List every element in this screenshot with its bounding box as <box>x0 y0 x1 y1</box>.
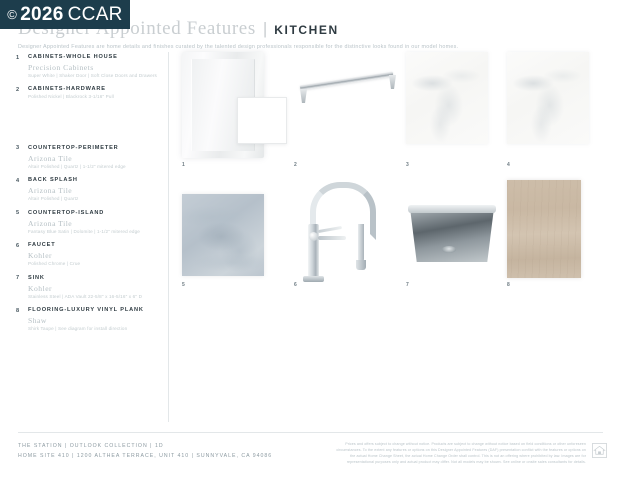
feature-category: COUNTERTOP-PERIMETER <box>28 145 166 153</box>
cabinet-pull-image <box>294 52 399 158</box>
product-cell-8: 8 <box>507 180 606 284</box>
feature-number: 6 <box>16 242 28 268</box>
feature-category: CABINETS-WHOLE HOUSE <box>28 54 166 62</box>
feature-number: 8 <box>16 307 28 333</box>
quartz-backsplash-image <box>507 52 589 144</box>
feature-description: Shirk Taupe | See diagram for install di… <box>28 326 166 333</box>
feature-brand: Precision Cabinets <box>28 62 166 73</box>
copyright-watermark: © 2026 CCAR <box>0 0 130 29</box>
product-cell-3: 3 <box>406 52 507 158</box>
vinyl-plank-image <box>507 180 581 278</box>
product-number-3: 3 <box>406 162 409 168</box>
product-number-7: 7 <box>406 282 409 288</box>
feature-category: CABINETS-HARDWARE <box>28 86 166 94</box>
feature-description: Polished Chrome | Crue <box>28 261 166 268</box>
feature-description: Polished Nickel | Blackrock 3-1/16" Pull <box>28 94 166 101</box>
feature-item: 1 CABINETS-WHOLE HOUSE Precision Cabinet… <box>16 54 166 80</box>
product-row-bottom: 5 6 7 8 <box>182 180 606 284</box>
equal-housing-opportunity-icon <box>592 443 607 458</box>
feature-category: FLOORING-LUXURY VINYL PLANK <box>28 307 166 315</box>
feature-description: Altair Polished | Quartz <box>28 196 166 203</box>
feature-number: 3 <box>16 145 28 171</box>
footer-divider <box>18 432 603 433</box>
product-number-4: 4 <box>507 162 510 168</box>
product-number-8: 8 <box>507 282 510 288</box>
feature-number: 1 <box>16 54 28 80</box>
footer-address-block: THE STATION | OUTLOOK COLLECTION | 1D HO… <box>18 442 272 462</box>
feature-brand: Arizona Tile <box>28 153 166 164</box>
copyright-year: 2026 <box>20 4 63 26</box>
product-cell-5: 5 <box>182 180 294 284</box>
sink-image <box>406 200 498 274</box>
feature-category: SINK <box>28 275 166 283</box>
feature-item: 6 FAUCET Kohler Polished Chrome | Crue <box>16 242 166 268</box>
product-number-5: 5 <box>182 282 185 288</box>
room-label: KITCHEN <box>274 23 339 37</box>
footer-community-line: THE STATION | OUTLOOK COLLECTION | 1D <box>18 442 272 452</box>
product-row-top: 1 2 3 4 <box>182 52 606 158</box>
feature-number: 4 <box>16 177 28 203</box>
page-footer: THE STATION | OUTLOOK COLLECTION | 1D HO… <box>18 442 607 466</box>
feature-item: 8 FLOORING-LUXURY VINYL PLANK Shaw Shirk… <box>16 307 166 333</box>
copyright-org: CCAR <box>68 4 123 26</box>
feature-item: 3 COUNTERTOP-PERIMETER Arizona Tile Alta… <box>16 145 166 171</box>
feature-number: 2 <box>16 86 28 100</box>
page-subtitle: Designer Appointed Features are home det… <box>18 44 603 52</box>
cabinet-color-swatch <box>237 97 287 144</box>
product-cell-6: 6 <box>294 180 406 284</box>
footer-address-line: HOME SITE 410 | 1200 ALTHEA TERRACE, UNI… <box>18 452 272 462</box>
product-cell-1: 1 <box>182 52 294 158</box>
feature-description: Super White | Shaker Door | Soft Close D… <box>28 73 166 80</box>
feature-item: 7 SINK Kohler Stainless Steel | ADA Vaul… <box>16 275 166 301</box>
feature-brand: Arizona Tile <box>28 218 166 229</box>
product-cell-2: 2 <box>294 52 406 158</box>
cabinet-door-image <box>182 52 294 158</box>
product-cell-7: 7 <box>406 180 507 284</box>
dolomite-island-image <box>182 194 264 276</box>
feature-item: 2 CABINETS-HARDWARE Polished Nickel | Bl… <box>16 86 166 100</box>
copyright-symbol: © <box>7 7 17 22</box>
feature-category: FAUCET <box>28 242 166 250</box>
feature-description: Stainless Steel | ADA Vault 22-5/8" x 16… <box>28 294 166 301</box>
feature-brand: Kohler <box>28 250 166 261</box>
feature-category: COUNTERTOP-ISLAND <box>28 210 166 218</box>
footer-legal-block: Prices and offers subject to change with… <box>334 442 607 466</box>
product-number-2: 2 <box>294 162 297 168</box>
feature-list: 1 CABINETS-WHOLE HOUSE Precision Cabinet… <box>16 54 166 340</box>
feature-description: Fantasy Blue Satin | Dolomite | 1-1/2" m… <box>28 229 166 236</box>
feature-number: 5 <box>16 210 28 236</box>
faucet-image <box>294 180 380 284</box>
legal-disclaimer: Prices and offers subject to change with… <box>334 442 586 466</box>
feature-brand: Shaw <box>28 315 166 326</box>
quartz-perimeter-image <box>406 52 488 144</box>
feature-description: Altair Polished | Quartz | 1-1/2" mitere… <box>28 164 166 171</box>
product-number-1: 1 <box>182 162 185 168</box>
feature-item: 5 COUNTERTOP-ISLAND Arizona Tile Fantasy… <box>16 210 166 236</box>
title-separator: | <box>263 19 267 39</box>
feature-number: 7 <box>16 275 28 301</box>
feature-item: 4 BACK SPLASH Arizona Tile Altair Polish… <box>16 177 166 203</box>
product-cell-4: 4 <box>507 52 606 158</box>
vertical-divider <box>168 52 169 422</box>
product-number-6: 6 <box>294 282 297 288</box>
feature-brand: Kohler <box>28 283 166 294</box>
product-grid: 1 2 3 4 5 <box>182 52 606 284</box>
feature-category: BACK SPLASH <box>28 177 166 185</box>
feature-brand: Arizona Tile <box>28 185 166 196</box>
